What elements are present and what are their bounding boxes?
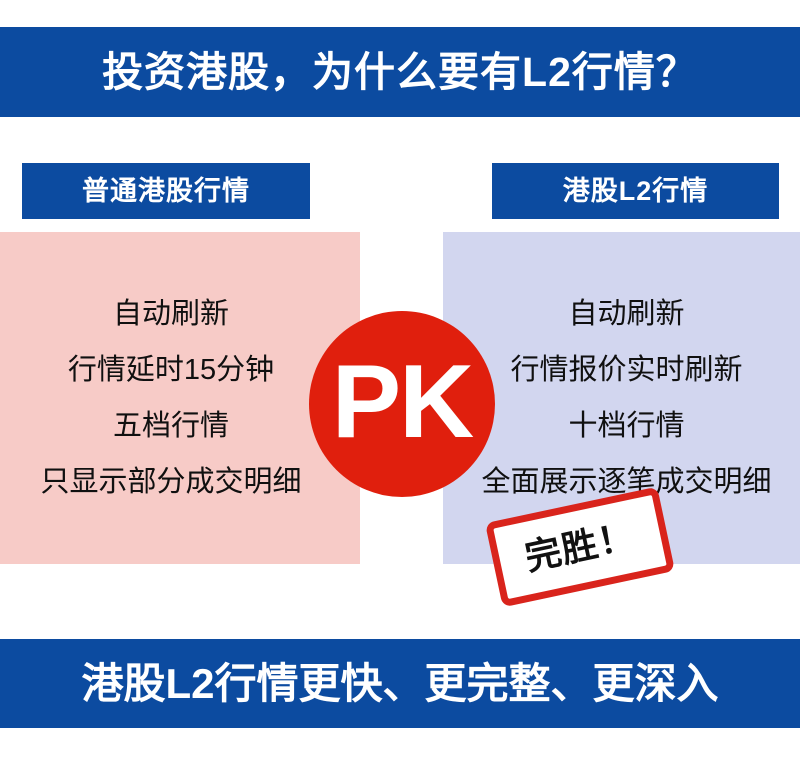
list-item: 只显示部分成交明细 (0, 468, 351, 497)
footer-title: 港股L2行情更快、更完整、更深入 (81, 663, 718, 705)
infographic-poster: 投资港股，为什么要有L2行情？ 普通港股行情 港股L2行情 自动刷新 行情延时1… (0, 0, 800, 760)
left-feature-panel: 自动刷新 行情延时15分钟 五档行情 只显示部分成交明细 (0, 232, 360, 564)
header-title: 投资港股，为什么要有L2行情？ (102, 52, 698, 93)
versus-pk-badge-icon: PK (309, 311, 495, 497)
right-column-label-box: 港股L2行情 (492, 163, 779, 219)
list-item: 全面展示逐笔成交明细 (448, 468, 800, 497)
left-column-label-box: 普通港股行情 (22, 163, 310, 219)
footer-banner: 港股L2行情更快、更完整、更深入 (0, 639, 800, 728)
list-item: 自动刷新 (448, 300, 800, 329)
right-column-label-text: 港股L2行情 (563, 178, 709, 205)
list-item: 十档行情 (448, 412, 800, 441)
list-item: 行情延时15分钟 (0, 356, 351, 385)
header-banner: 投资港股，为什么要有L2行情？ (0, 27, 800, 117)
left-column-label-text: 普通港股行情 (82, 178, 250, 205)
versus-pk-badge-text: PK (332, 350, 472, 454)
list-item: 五档行情 (0, 412, 351, 441)
list-item: 行情报价实时刷新 (448, 356, 800, 385)
list-item: 自动刷新 (0, 300, 351, 329)
win-stamp-text: 完胜！ (522, 518, 638, 576)
